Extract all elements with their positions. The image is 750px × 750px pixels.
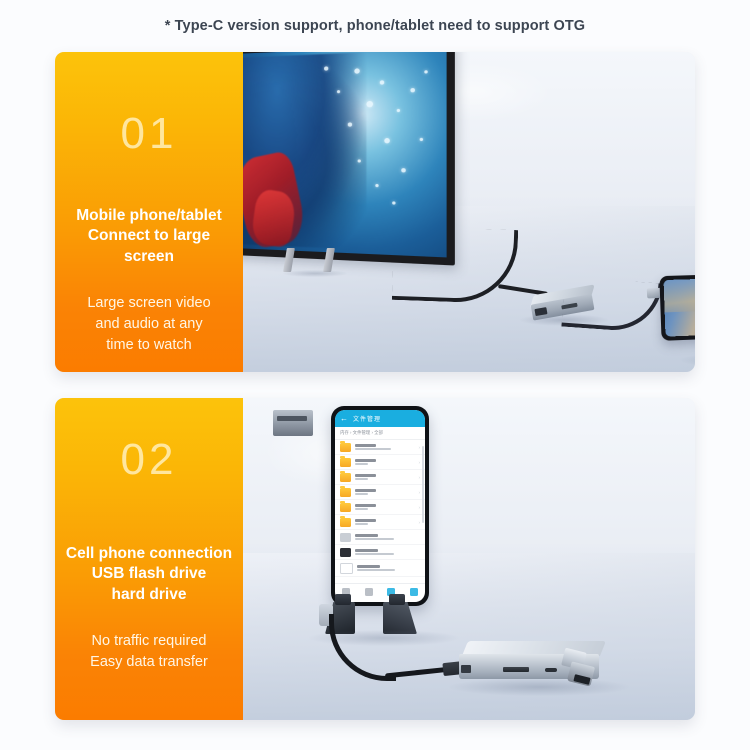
movie-sky [664, 276, 695, 313]
smartphone-portrait: ← 文件管理 内存 › 文件管理 › 全部 › [331, 406, 429, 606]
hub-side-port [461, 665, 471, 673]
sd-card-slot-icon [503, 667, 529, 672]
file-manager-app-bar: ← 文件管理 [335, 410, 425, 427]
panel-01-subtitle: Large screen video and audio at any time… [55, 293, 243, 356]
list-item[interactable]: › [335, 455, 425, 470]
list-item[interactable]: › [335, 440, 425, 455]
panel-02-title: Cell phone connection USB flash drive ha… [55, 544, 243, 605]
list-item-meta [355, 474, 414, 480]
folder-icon [340, 473, 351, 482]
chevron-right-icon: › [418, 490, 420, 495]
panel-02-title-line-3: hard drive [61, 585, 237, 605]
list-item-meta [355, 444, 414, 450]
list-item-name [357, 565, 380, 568]
panel-01-sidebar: 01 Mobile phone/tablet Connect to large … [55, 52, 243, 372]
list-item[interactable] [335, 560, 425, 577]
panel-02-photo: ← 文件管理 内存 › 文件管理 › 全部 › [243, 398, 695, 720]
feature-panel-02: 02 Cell phone connection USB flash drive… [55, 398, 695, 720]
chevron-right-icon: › [418, 475, 420, 480]
image-file-icon [340, 548, 351, 557]
panel-01-photo [243, 52, 695, 372]
tv-stand [281, 248, 343, 274]
phone-stand-center-block [273, 410, 313, 436]
list-item-name [355, 534, 378, 537]
panel-02-title-line-1: Cell phone connection [61, 544, 237, 564]
list-item[interactable] [335, 545, 425, 560]
list-item-meta [355, 459, 414, 465]
tv-stand-leg-left [283, 248, 295, 272]
feature-panel-01: 01 Mobile phone/tablet Connect to large … [55, 52, 695, 372]
chevron-right-icon: › [418, 505, 420, 510]
usb-flash-drive [563, 650, 601, 686]
contacts-file-icon [340, 563, 353, 574]
file-manager-title: 文件管理 [353, 414, 381, 423]
list-item-name [355, 489, 376, 492]
list-item[interactable]: › [335, 470, 425, 485]
phone-stand-slot [277, 416, 307, 421]
chevron-right-icon: › [418, 445, 420, 450]
list-item-detail [355, 553, 394, 555]
panel-01-number: 01 [55, 112, 243, 156]
panel-02-number: 02 [55, 438, 243, 482]
panel-02-sub-line-2: Easy data transfer [69, 652, 229, 673]
list-item-name [355, 444, 376, 447]
tv-stand-leg-right [323, 248, 335, 272]
list-item-meta [355, 489, 414, 495]
folder-icon [340, 458, 351, 467]
list-item-name [355, 474, 376, 477]
panel-01-sub-line-1: Large screen video [69, 293, 229, 314]
panel-02-subtitle: No traffic required Easy data transfer [55, 631, 243, 673]
list-item-name [355, 504, 376, 507]
list-item-detail [355, 448, 391, 450]
list-item-meta [355, 549, 420, 555]
chevron-right-icon: › [418, 520, 420, 525]
list-item-detail [355, 538, 394, 540]
back-arrow-icon[interactable]: ← [340, 415, 348, 423]
list-item-meta [357, 565, 420, 571]
list-item[interactable]: › [335, 485, 425, 500]
list-item[interactable]: › [335, 500, 425, 515]
list-item-detail [357, 569, 395, 571]
list-item-meta [355, 504, 414, 510]
folder-icon [340, 503, 351, 512]
phone-stand-clip-right [389, 594, 405, 605]
panel-02-sub-line-1: No traffic required [69, 631, 229, 652]
phone-screen-file-manager: ← 文件管理 内存 › 文件管理 › 全部 › [335, 410, 425, 602]
list-item-detail [355, 523, 368, 525]
document-icon [340, 533, 351, 542]
phone-stand-clip-left [335, 594, 351, 605]
panel-01-title-line-1: Mobile phone/tablet [61, 206, 237, 226]
list-item-detail [355, 463, 368, 465]
panel-02-title-line-2: USB flash drive [61, 564, 237, 584]
phone-stand-shadow [679, 352, 695, 368]
folder-icon [340, 443, 351, 452]
list-item[interactable] [335, 530, 425, 545]
list-item-name [355, 549, 378, 552]
smartphone-landscape [661, 274, 695, 338]
file-manager-list[interactable]: › › [335, 440, 425, 583]
panel-01-title-line-2: Connect to large screen [61, 226, 237, 267]
folder-icon [340, 518, 351, 527]
list-item-meta [355, 534, 420, 540]
panel-01-sub-line-3: time to watch [69, 335, 229, 356]
tv-monitor [243, 52, 438, 255]
folder-icon [340, 488, 351, 497]
panel-01-sub-line-2: and audio at any [69, 314, 229, 335]
list-item-detail [355, 478, 368, 480]
chevron-right-icon: › [418, 460, 420, 465]
panel-01-title: Mobile phone/tablet Connect to large scr… [55, 206, 243, 267]
tv-stand-shadow [283, 270, 347, 277]
list-item[interactable]: › [335, 515, 425, 530]
usb-c-port-icon [545, 668, 557, 672]
list-item-detail [355, 508, 368, 510]
list-item-name [355, 459, 376, 462]
list-item-meta [355, 519, 414, 525]
list-item-name [355, 519, 376, 522]
file-manager-breadcrumb[interactable]: 内存 › 文件管理 › 全部 [335, 427, 425, 440]
list-item-detail [355, 493, 368, 495]
phone-screen-movie [664, 276, 695, 337]
header-note: * Type-C version support, phone/tablet n… [0, 0, 750, 52]
list-scrollbar[interactable] [422, 446, 424, 523]
panel-02-sidebar: 02 Cell phone connection USB flash drive… [55, 398, 243, 720]
